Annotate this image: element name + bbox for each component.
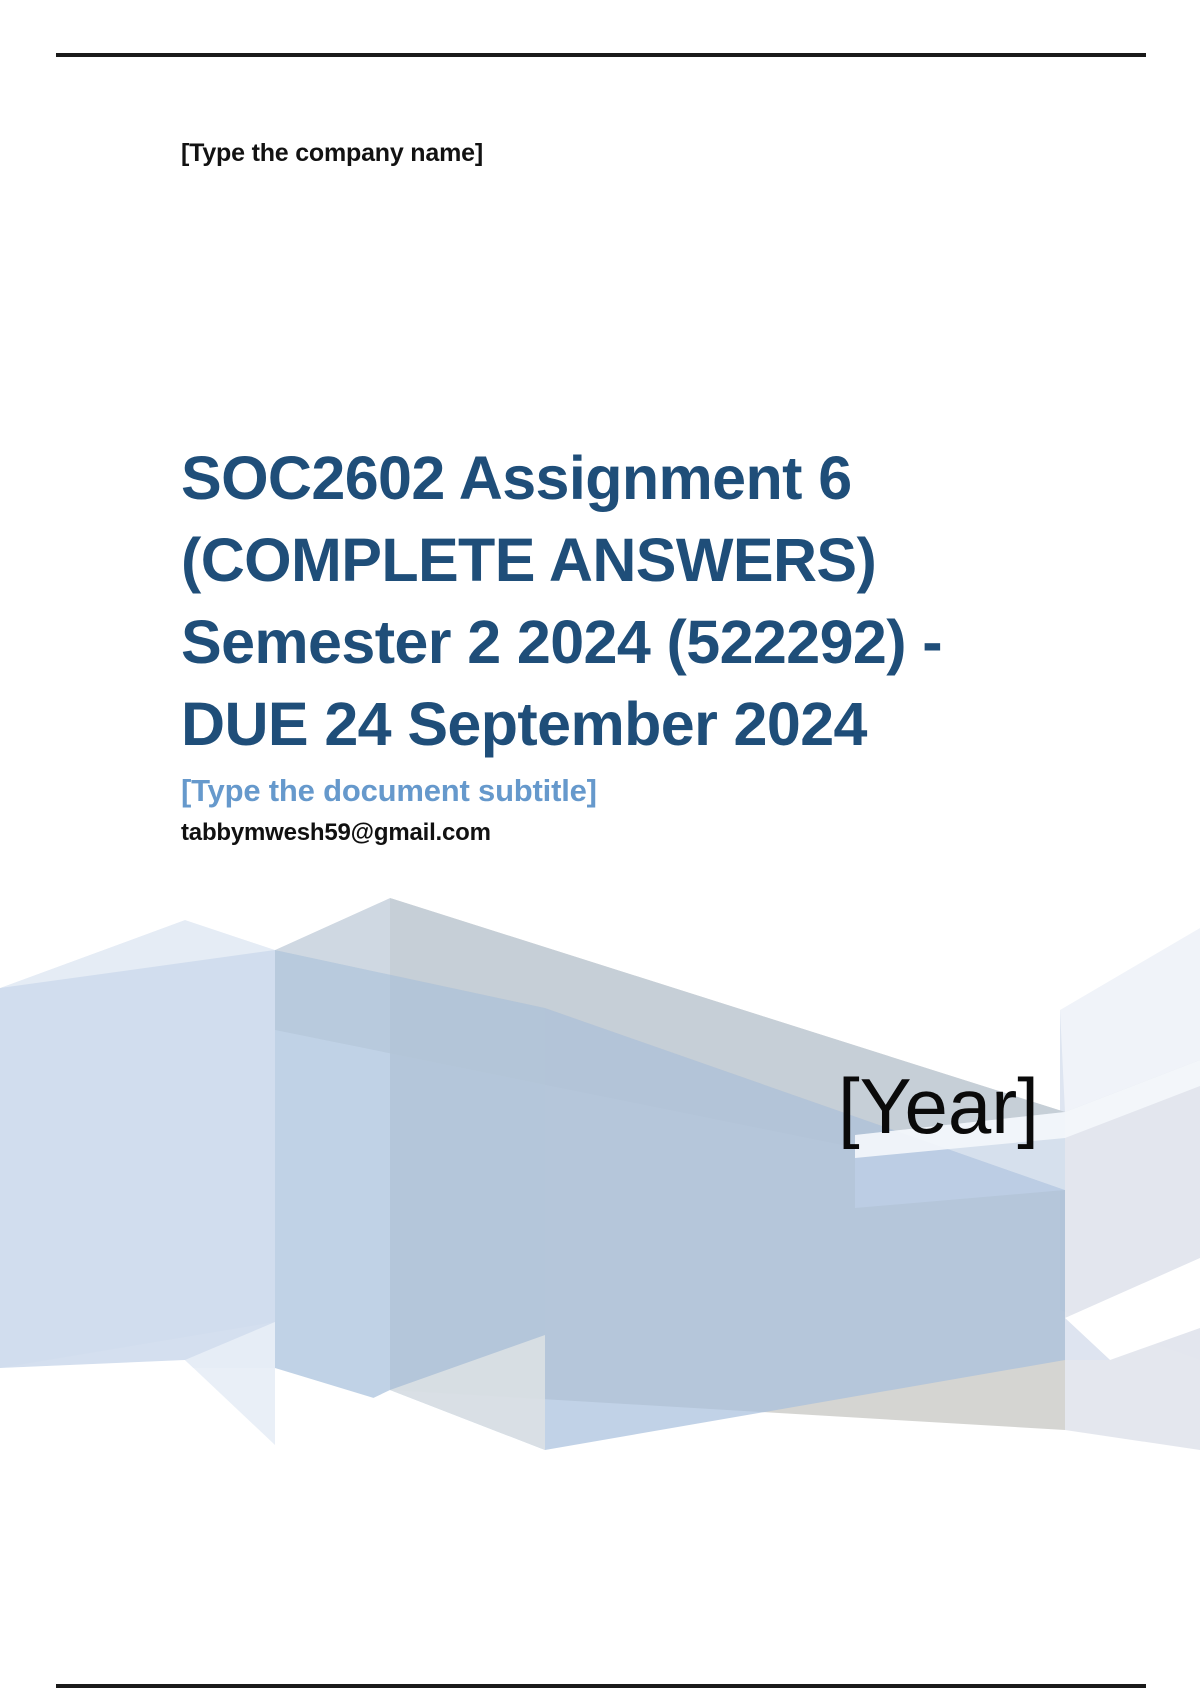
company-name-placeholder[interactable]: [Type the company name] — [181, 139, 483, 168]
graphic-shape-blue-left-face — [0, 950, 275, 1368]
author-email[interactable]: tabbymwesh59@gmail.com — [181, 816, 971, 850]
banded-cover-graphic — [0, 890, 1200, 1450]
year-placeholder[interactable]: [Year] — [838, 1063, 1039, 1149]
banded-graphic-svg — [0, 890, 1200, 1450]
document-title[interactable]: SOC2602 Assignment 6 (COMPLETE ANSWERS) … — [181, 437, 971, 765]
cover-page: [Type the company name] SOC2602 Assignme… — [0, 0, 1200, 1700]
top-rule-divider — [56, 53, 1146, 57]
title-block: SOC2602 Assignment 6 (COMPLETE ANSWERS) … — [181, 437, 971, 850]
bottom-rule-divider — [56, 1684, 1146, 1688]
document-subtitle-placeholder[interactable]: [Type the document subtitle] — [181, 771, 971, 811]
